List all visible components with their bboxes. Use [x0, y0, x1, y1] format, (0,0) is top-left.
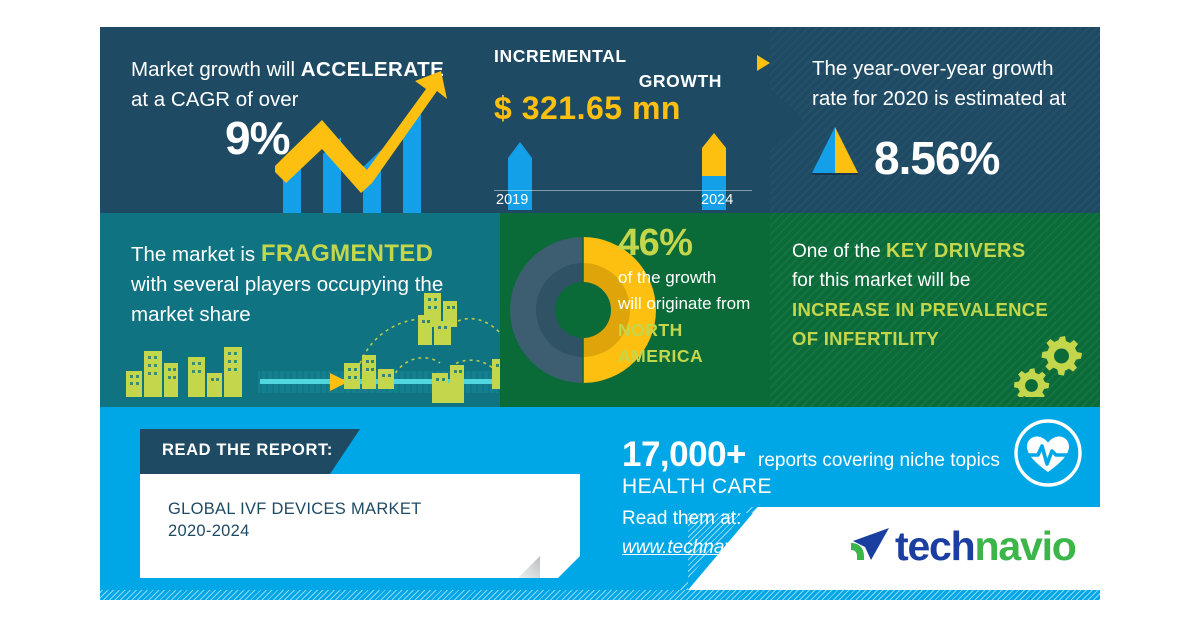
yoy-growth-panel: The year-over-year growth rate for 2020 … — [770, 27, 1100, 213]
report-title: GLOBAL IVF DEVICES MARKET — [168, 500, 422, 519]
drivers-text-plain: One of the — [792, 241, 886, 262]
report-sector: HEALTH CARE — [622, 475, 772, 499]
growth-arrow-chart-icon — [275, 62, 470, 213]
incremental-growth-value: $ 321.65 mn — [494, 90, 681, 127]
yoy-value: 8.56% — [874, 135, 999, 181]
market-fragmentation-icon — [108, 313, 500, 399]
region-name-line1: NORTH — [618, 317, 768, 343]
drivers-text-bold: KEY DRIVERS — [886, 240, 1026, 262]
technavio-wordmark: technavio — [895, 526, 1076, 567]
cagr-panel: Market growth will ACCELERATE at a CAGR … — [100, 27, 470, 213]
incremental-growth-panel: INCREMENTAL GROWTH $ 321.65 mn 2019 2024 — [470, 27, 770, 213]
read-the-report-label: READ THE REPORT: — [162, 441, 333, 460]
incremental-title-line1: INCREMENTAL — [494, 46, 627, 66]
cagr-text-line2: at a CAGR of over — [131, 88, 298, 111]
read-the-report-tab: READ THE REPORT: — [140, 429, 360, 474]
caret-right-icon — [757, 55, 770, 71]
bottom-cta-bar: READ THE REPORT: GLOBAL IVF DEVICES MARK… — [100, 407, 1100, 600]
incremental-axis-line — [494, 190, 752, 191]
triangle-up-icon — [812, 127, 858, 175]
bottom-hatch-strip — [100, 590, 1100, 600]
driver-detail-line1: INCREASE IN PREVALENCE — [792, 295, 1092, 324]
infographic-canvas: Market growth will ACCELERATE at a CAGR … — [100, 27, 1100, 600]
fragmented-text-plain: The market is — [131, 243, 261, 266]
technavio-logo-mark-icon — [843, 524, 891, 568]
heart-pulse-badge-icon — [1012, 417, 1084, 489]
fragmented-market-panel: The market is FRAGMENTED with several pl… — [100, 213, 500, 407]
logo-word-navio: navio — [975, 523, 1076, 569]
yoy-description: The year-over-year growth rate for 2020 … — [812, 54, 1072, 114]
fragmented-text-line2: with several players occupying the — [131, 273, 443, 296]
regional-growth-text: 46% of the growth will originate from NO… — [618, 221, 768, 369]
report-count-description: reports covering niche topics — [758, 450, 1000, 472]
drivers-line1: One of the KEY DRIVERS — [792, 237, 1092, 266]
regional-growth-line1: of the growth — [618, 265, 768, 291]
report-period: 2020-2024 — [168, 522, 250, 541]
yoy-text-line2: rate for 2020 is estimated at — [812, 87, 1066, 110]
gears-icon — [1014, 333, 1086, 397]
fragmented-text-bold: FRAGMENTED — [261, 240, 433, 267]
incremental-axis-label-2019: 2019 — [496, 192, 528, 208]
key-drivers-panel: One of the KEY DRIVERS for this market w… — [770, 213, 1100, 407]
report-count: 17,000+ — [622, 435, 746, 475]
logo-wedge: technavio — [688, 507, 1100, 590]
report-count-row: 17,000+ reports covering niche topics — [622, 435, 1000, 475]
regional-growth-panel: 46% of the growth will originate from NO… — [500, 213, 770, 407]
drivers-line2: for this market will be — [792, 266, 1092, 295]
yoy-text-line1: The year-over-year growth — [812, 57, 1054, 80]
regional-growth-line2: will originate from — [618, 291, 768, 317]
technavio-logo: technavio — [843, 515, 1083, 577]
logo-word-tech: tech — [895, 523, 975, 569]
yoy-value-row: 8.56% — [812, 127, 999, 181]
incremental-axis-label-2024: 2024 — [701, 192, 733, 208]
regional-growth-percent: 46% — [618, 221, 768, 265]
report-title-card[interactable]: GLOBAL IVF DEVICES MARKET 2020-2024 — [140, 474, 580, 578]
region-name-line2: AMERICA — [618, 343, 768, 369]
incremental-growth-title: INCREMENTAL GROWTH — [494, 44, 744, 94]
